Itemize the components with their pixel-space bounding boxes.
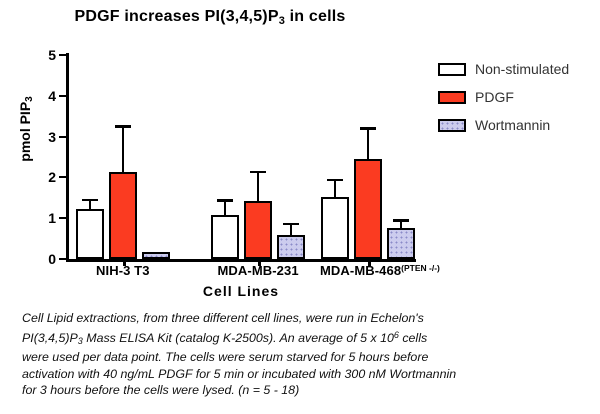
legend-item-ns[interactable]: Non-stimulated <box>438 57 598 81</box>
bar-MDA-MB-468-non-stimulated <box>321 197 349 259</box>
error-bar-cap <box>360 127 376 130</box>
figure-caption: Cell Lipid extractions, from three diffe… <box>22 310 582 399</box>
y-tick-label-3: 3 <box>34 130 56 144</box>
bar-NIH-3-T3-pdgf <box>109 172 137 259</box>
error-bar-line <box>400 222 403 229</box>
error-bar-line <box>367 130 370 160</box>
x-axis-line <box>66 259 416 262</box>
error-bar-line <box>89 201 92 209</box>
chart-page: PDGF increases PI(3,4,5)P3 in cells pmol… <box>0 0 600 414</box>
error-bar-line <box>334 181 337 197</box>
error-bar-cap <box>393 219 409 222</box>
x-axis-label-MDA-MB-231: MDA-MB-231 <box>218 263 299 278</box>
plot-area: pmol PIP3 012345 NIH-3 T3MDA-MB-231MDA-M… <box>0 0 430 300</box>
error-bar-line <box>122 128 125 172</box>
bar-MDA-MB-231-non-stimulated <box>211 215 239 259</box>
error-bar-cap <box>217 199 233 202</box>
bar-MDA-MB-231-wortmannin <box>277 235 305 259</box>
caption-line-5: for 3 hours before the cells were lysed.… <box>22 383 299 397</box>
error-bar-cap <box>283 223 299 226</box>
x-axis-label-MDA-MB-468: MDA-MB-468(PTEN -/-) <box>320 263 440 278</box>
error-bar-line <box>290 225 293 235</box>
x-tick-label-text: MDA-MB-468 <box>320 263 401 278</box>
y-tick-label-4: 4 <box>34 89 56 103</box>
legend: Non-stimulatedPDGFWortmannin <box>438 57 598 141</box>
error-bar-cap <box>327 179 343 182</box>
bar-MDA-MB-231-pdgf <box>244 201 272 259</box>
x-tick-label-superscript: (PTEN -/-) <box>401 263 440 273</box>
error-bar-line <box>257 173 260 201</box>
error-bar-cap <box>250 171 266 174</box>
y-tick-label-0: 0 <box>34 252 56 266</box>
legend-item-wort[interactable]: Wortmannin <box>438 113 598 137</box>
legend-label-wort: Wortmannin <box>475 117 550 133</box>
legend-swatch-ns <box>438 63 466 76</box>
caption-line-1: Cell Lipid extractions, from three diffe… <box>22 311 424 325</box>
x-axis-label-NIH-3-T3: NIH-3 T3 <box>96 263 150 278</box>
legend-swatch-wort <box>438 119 466 132</box>
legend-label-ns: Non-stimulated <box>475 61 569 77</box>
bar-series-container <box>66 0 416 259</box>
x-axis-title: Cell Lines <box>66 283 416 299</box>
y-tick-label-1: 1 <box>34 211 56 225</box>
bar-NIH-3-T3-non-stimulated <box>76 209 104 259</box>
error-bar-line <box>224 202 227 215</box>
caption-line-4: activation with 40 ng/mL PDGF for 5 min … <box>22 367 456 381</box>
legend-swatch-pdgf <box>438 91 466 104</box>
caption-line-3: were used per data point. The cells were… <box>22 350 428 364</box>
x-tick-label-text: NIH-3 T3 <box>96 263 150 278</box>
bar-MDA-MB-468-pdgf <box>354 159 382 259</box>
bar-MDA-MB-468-wortmannin <box>387 228 415 259</box>
y-tick-label-2: 2 <box>34 170 56 184</box>
bar-NIH-3-T3-wortmannin <box>142 252 170 259</box>
x-tick-label-text: MDA-MB-231 <box>218 263 299 278</box>
y-axis-tick-labels: 012345 <box>30 0 56 300</box>
error-bar-cap <box>115 125 131 128</box>
error-bar-cap <box>82 199 98 202</box>
y-tick-label-5: 5 <box>34 48 56 62</box>
legend-item-pdgf[interactable]: PDGF <box>438 85 598 109</box>
legend-label-pdgf: PDGF <box>475 89 514 105</box>
